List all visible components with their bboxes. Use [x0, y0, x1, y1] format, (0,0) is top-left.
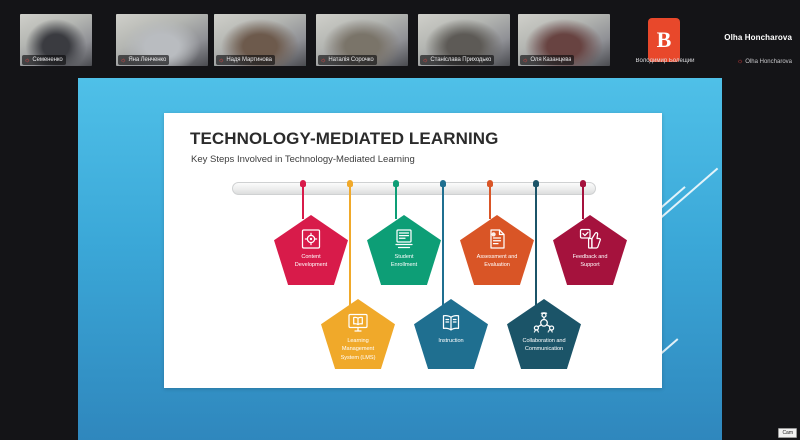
participant-name-label: Надя Мартинова — [226, 55, 272, 65]
participant-name-bar: ☼Семененко — [22, 55, 66, 65]
process-step-pentagon: Instruction — [414, 299, 488, 369]
process-step-label: Collaboration andCommunication — [513, 337, 575, 354]
self-display-name: Olha Honcharova — [724, 33, 792, 42]
pin-head-icon — [487, 180, 493, 187]
rail-pin — [489, 184, 491, 219]
participant-name-label: Наталія Сорочко — [328, 55, 373, 65]
rail-pin — [395, 184, 397, 219]
pin-head-icon — [347, 180, 353, 187]
participant-name-label: Станіслава Приходько — [430, 55, 491, 65]
assessment-sheet-icon — [486, 228, 508, 250]
participant-name-label: Оля Казанцева — [530, 55, 571, 65]
pin-head-icon — [393, 180, 399, 187]
video-call-window: ☼Семененко☼Яна Ленченко☼Надя Мартинова☼Н… — [0, 0, 800, 440]
process-step-label: LearningManagementSystem (LMS) — [327, 337, 389, 362]
pin-head-icon — [580, 180, 586, 187]
process-step-pentagon: Assessment andEvaluation — [460, 215, 534, 285]
self-name-label: Olha Honcharova — [745, 59, 792, 65]
rail-pin — [302, 184, 304, 219]
participant-thumbnail[interactable]: ☼Станіслава Приходько — [418, 14, 510, 66]
presentation-slide: TECHNOLOGY-MEDIATED LEARNING Key Steps I… — [164, 113, 662, 388]
process-step-label: StudentEnrollment — [373, 253, 435, 270]
corner-status-chip[interactable]: Cam — [778, 428, 797, 438]
participant-name-bar: ☼Станіслава Приходько — [420, 55, 494, 65]
process-step-pentagon: ContentDevelopment — [274, 215, 348, 285]
pin-head-icon — [300, 180, 306, 187]
muted-mic-icon: ☼ — [320, 57, 326, 64]
muted-mic-icon: ☼ — [522, 57, 528, 64]
timeline-rail — [232, 182, 596, 195]
muted-mic-icon: ☼ — [218, 57, 224, 64]
participant-name-label: Яна Ленченко — [128, 55, 166, 65]
process-step-label: Instruction — [420, 337, 482, 345]
participant-thumbnail[interactable]: ☼Семененко — [20, 14, 92, 66]
process-step-label: ContentDevelopment — [280, 253, 342, 270]
participant-name-bar: ☼Надя Мартинова — [216, 55, 275, 65]
process-step-pentagon: Collaboration andCommunication — [507, 299, 581, 369]
rail-pin — [535, 184, 537, 305]
rail-pin — [442, 184, 444, 305]
participant-avatar-tile[interactable]: В — [648, 18, 680, 62]
participant-name-bar: ☼Яна Ленченко — [118, 55, 169, 65]
thumbs-up-check-icon — [579, 228, 601, 250]
muted-mic-icon: ☼ — [24, 57, 30, 64]
pin-head-icon — [440, 180, 446, 187]
process-step-label: Assessment andEvaluation — [466, 253, 528, 270]
enrollment-form-icon — [393, 228, 415, 250]
shared-screen-stage[interactable]: TECHNOLOGY-MEDIATED LEARNING Key Steps I… — [78, 78, 722, 440]
participant-thumbnail[interactable]: ☼Надя Мартинова — [214, 14, 306, 66]
rail-pin — [582, 184, 584, 219]
process-step-pentagon: LearningManagementSystem (LMS) — [321, 299, 395, 369]
monitor-book-icon — [347, 312, 369, 334]
participant-thumbnail[interactable]: ☼Оля Казанцева — [518, 14, 610, 66]
process-step-pentagon: Feedback andSupport — [553, 215, 627, 285]
process-step-label: Feedback andSupport — [559, 253, 621, 270]
participant-thumbnail[interactable]: ☼Яна Ленченко — [116, 14, 208, 66]
participant-name-bar: ☼Оля Казанцева — [520, 55, 574, 65]
open-book-icon — [440, 312, 462, 334]
avatar-letter: В — [657, 27, 672, 53]
participant-name-label: Семененко — [32, 55, 62, 65]
muted-mic-icon: ☼ — [737, 58, 743, 65]
slide-subtitle: Key Steps Involved in Technology-Mediate… — [191, 154, 415, 165]
participant-name-bar: ☼Наталія Сорочко — [318, 55, 377, 65]
self-name-bar: ☼ Olha Honcharova — [737, 58, 792, 65]
gear-document-icon — [300, 228, 322, 250]
process-step-pentagon: StudentEnrollment — [367, 215, 441, 285]
muted-mic-icon: ☼ — [422, 57, 428, 64]
people-network-icon — [533, 312, 555, 334]
muted-mic-icon: ☼ — [120, 57, 126, 64]
avatar-participant-name: Володимир Болещий — [628, 58, 702, 64]
rail-pin — [349, 184, 351, 305]
participant-thumbnail[interactable]: ☼Наталія Сорочко — [316, 14, 408, 66]
slide-title: TECHNOLOGY-MEDIATED LEARNING — [190, 129, 498, 149]
pin-head-icon — [533, 180, 539, 187]
participant-filmstrip: ☼Семененко☼Яна Ленченко☼Надя Мартинова☼Н… — [0, 0, 800, 78]
